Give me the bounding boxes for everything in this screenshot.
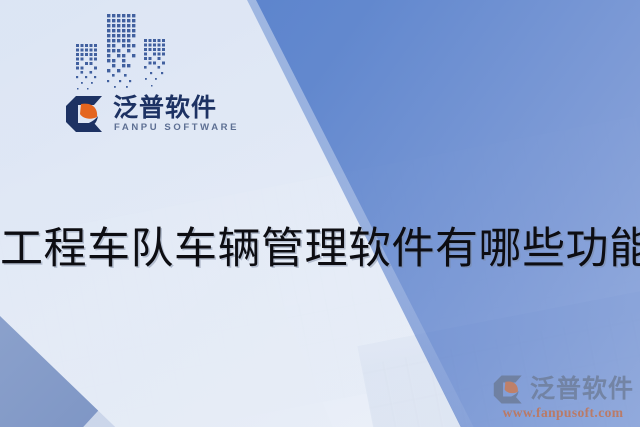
- brand-lockup: 泛普软件 FANPU SOFTWARE: [64, 94, 239, 134]
- brand-name-en: FANPU SOFTWARE: [113, 123, 239, 133]
- fanpu-hexagon-logo-icon: [64, 94, 106, 134]
- watermark-url: www.fanpusoft.com: [503, 406, 624, 420]
- brand-wordmark: 泛普软件 FANPU SOFTWARE: [113, 96, 239, 132]
- watermark: 泛普软件 www.fanpusoft.com: [492, 374, 634, 420]
- watermark-row: 泛普软件: [492, 374, 634, 405]
- watermark-name-cn: 泛普软件: [530, 377, 634, 402]
- page-title: 工程车队车辆管理软件有哪些功能: [0, 225, 640, 276]
- pixel-skyline-icon: [64, 6, 184, 106]
- promo-banner: 泛普软件 FANPU SOFTWARE 工程车队车辆管理软件有哪些功能 泛普软件…: [0, 0, 640, 427]
- fanpu-hexagon-logo-icon: [492, 374, 525, 405]
- brand-name-cn: 泛普软件: [113, 96, 239, 122]
